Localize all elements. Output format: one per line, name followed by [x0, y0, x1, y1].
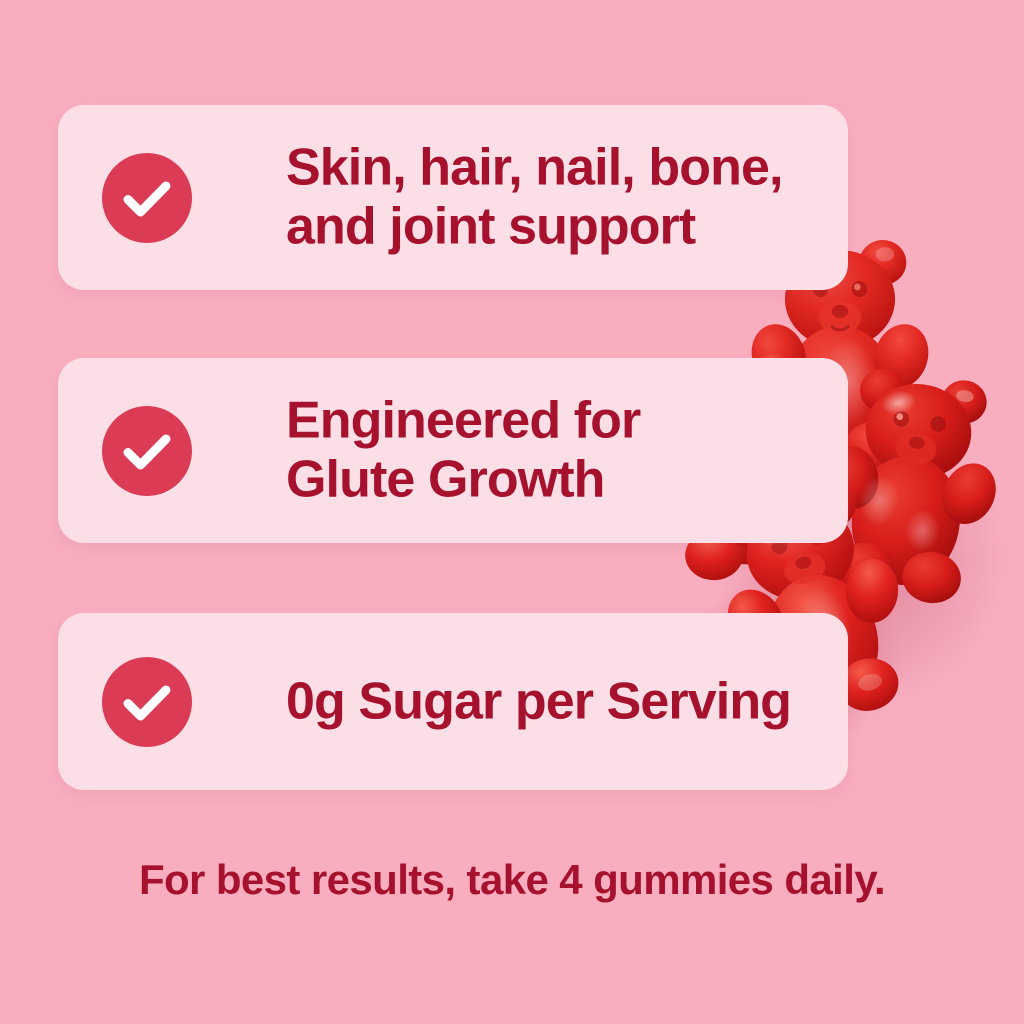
check-icon: [102, 153, 192, 243]
benefit-label: Engineered for Glute Growth: [286, 391, 824, 510]
check-icon: [102, 657, 192, 747]
check-icon: [102, 406, 192, 496]
benefit-card-zero-sugar: 0g Sugar per Serving: [58, 613, 848, 790]
benefit-card-glute-growth: Engineered for Glute Growth: [58, 358, 848, 543]
benefit-label: 0g Sugar per Serving: [286, 672, 824, 731]
benefit-label: Skin, hair, nail, bone, and joint suppor…: [286, 138, 824, 257]
product-benefits-graphic: Skin, hair, nail, bone, and joint suppor…: [0, 0, 1024, 1024]
check-badge: [102, 406, 192, 496]
check-badge: [102, 153, 192, 243]
benefit-card-skin-hair-nail-bone-joint: Skin, hair, nail, bone, and joint suppor…: [58, 105, 848, 290]
dosage-note: For best results, take 4 gummies daily.: [0, 856, 1024, 904]
check-badge: [102, 657, 192, 747]
